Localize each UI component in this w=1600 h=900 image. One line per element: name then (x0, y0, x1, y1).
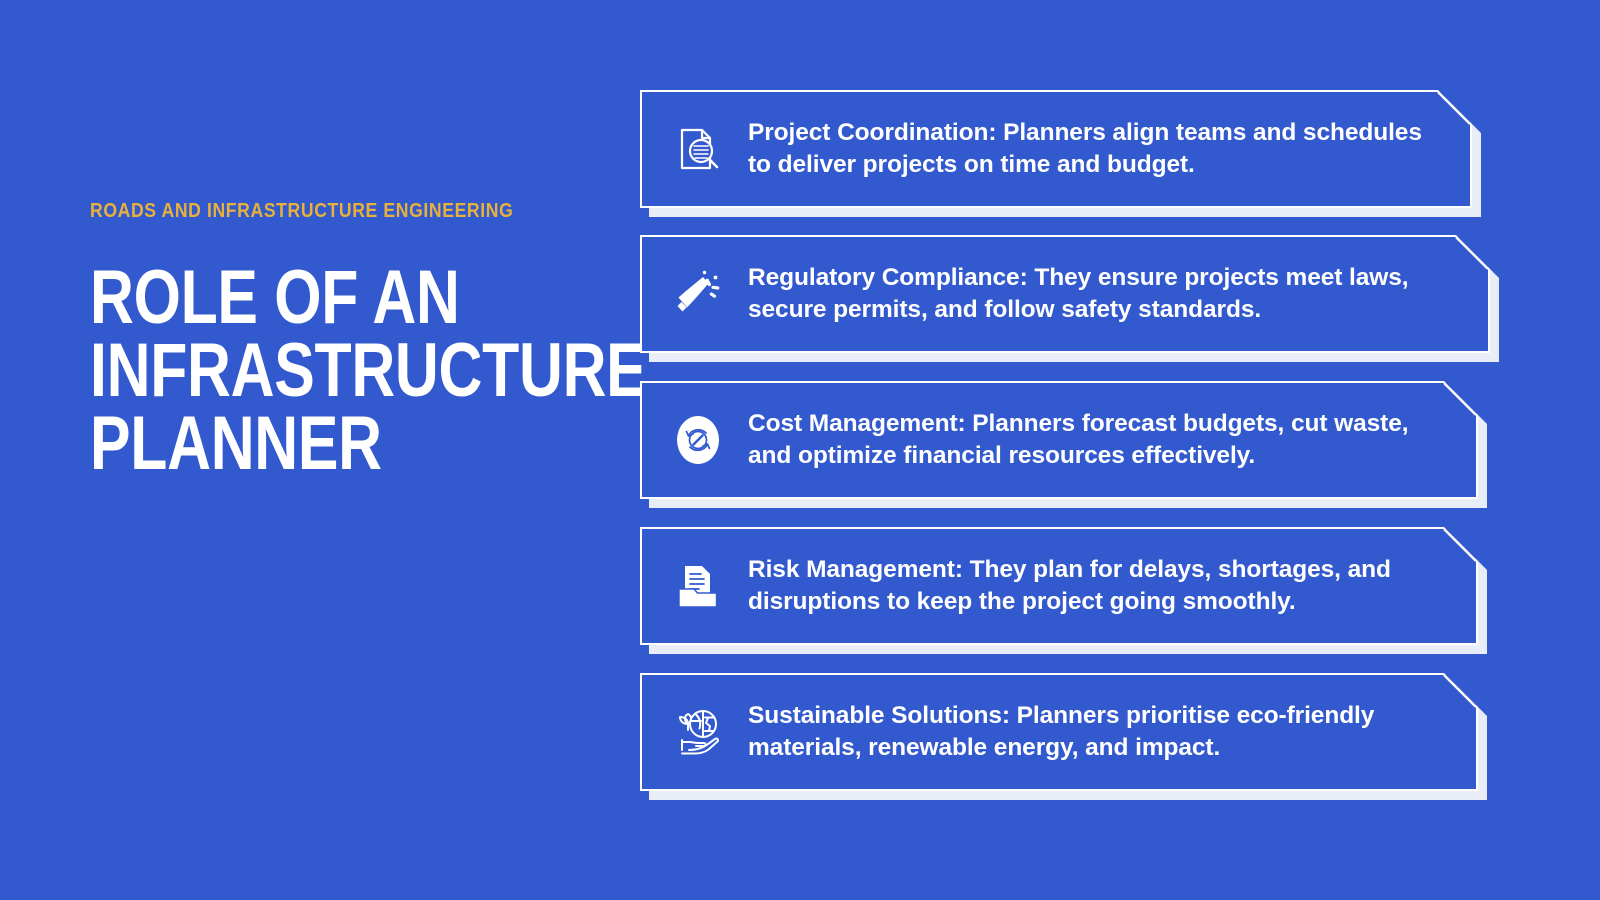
document-folder-icon (668, 556, 728, 616)
feature-card-2[interactable]: Regulatory Compliance: They ensure proje… (640, 235, 1490, 353)
card-text: Risk Management: They plan for delays, s… (748, 554, 1438, 619)
cost-cycle-icon (668, 410, 728, 470)
eyebrow-label: ROADS AND INFRASTRUCTURE ENGINEERING (90, 200, 548, 222)
megaphone-icon (668, 264, 728, 324)
card-surface[interactable]: Project Coordination: Planners align tea… (640, 90, 1472, 208)
feature-card-5[interactable]: Sustainable Solutions: Planners prioriti… (640, 673, 1478, 791)
feature-card-4[interactable]: Risk Management: They plan for delays, s… (640, 527, 1478, 645)
eco-globe-hand-icon (668, 702, 728, 762)
card-surface[interactable]: Sustainable Solutions: Planners prioriti… (640, 673, 1478, 791)
feature-card-3[interactable]: Cost Management: Planners forecast budge… (640, 381, 1478, 499)
page-title-line-3: PLANNER (90, 408, 506, 481)
page-title: ROLE OF AN INFRASTRUCTURE PLANNER (90, 262, 506, 481)
page-title-line-1: ROLE OF AN (90, 262, 506, 335)
card-text: Regulatory Compliance: They ensure proje… (748, 262, 1438, 327)
feature-card-1[interactable]: Project Coordination: Planners align tea… (640, 90, 1472, 208)
card-surface[interactable]: Regulatory Compliance: They ensure proje… (640, 235, 1490, 353)
card-text: Cost Management: Planners forecast budge… (748, 408, 1438, 473)
card-surface[interactable]: Cost Management: Planners forecast budge… (640, 381, 1478, 499)
card-surface[interactable]: Risk Management: They plan for delays, s… (640, 527, 1478, 645)
card-text: Project Coordination: Planners align tea… (748, 117, 1438, 182)
slide-canvas: ROADS AND INFRASTRUCTURE ENGINEERING ROL… (0, 0, 1600, 900)
card-text: Sustainable Solutions: Planners prioriti… (748, 700, 1438, 765)
feature-card-list: Project Coordination: Planners align tea… (640, 90, 1520, 810)
title-block: ROADS AND INFRASTRUCTURE ENGINEERING ROL… (90, 200, 610, 481)
document-search-icon (668, 119, 728, 179)
page-title-line-2: INFRASTRUCTURE (90, 335, 506, 408)
